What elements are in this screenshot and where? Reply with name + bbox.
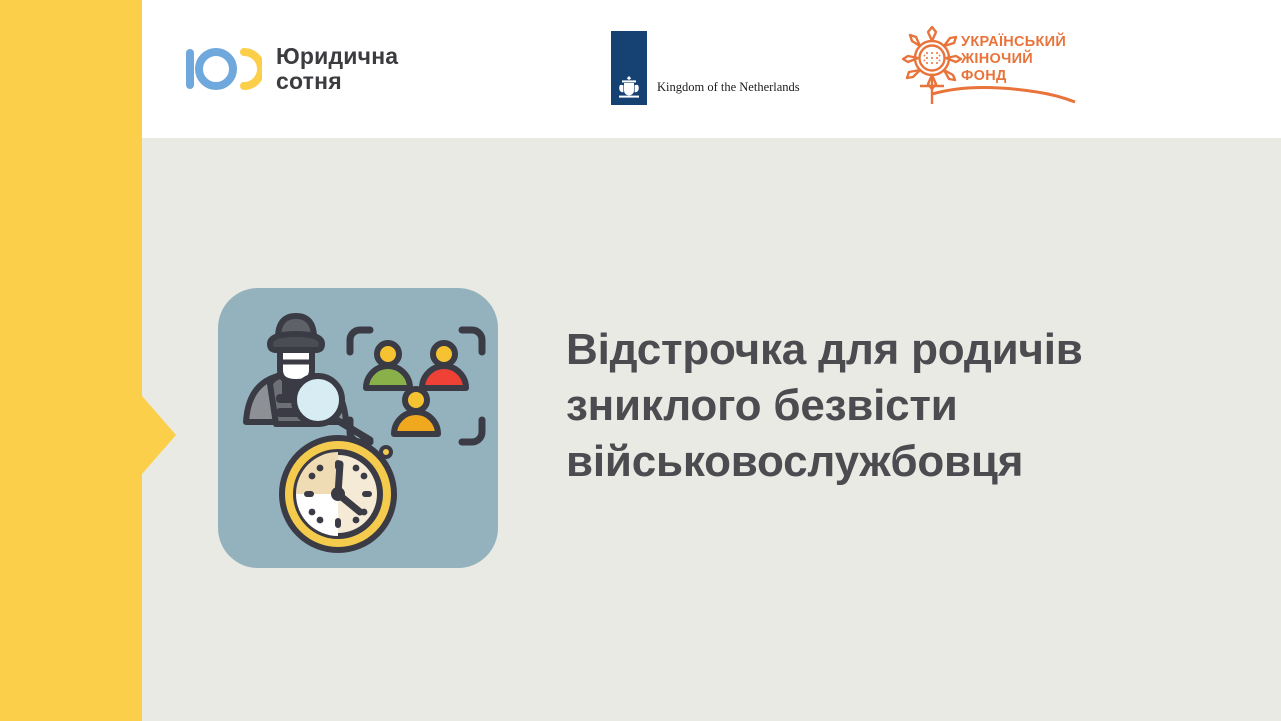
logo-netherlands-label: Kingdom of the Netherlands (657, 80, 800, 95)
netherlands-coat-of-arms-icon (616, 75, 642, 99)
person-red-icon (422, 343, 466, 388)
clock-icon (282, 438, 394, 550)
rail-chevron-right-icon (142, 396, 176, 474)
slide-root: Юридична сотня Kingdom of the Netherland… (0, 0, 1281, 721)
person-green-icon (366, 343, 410, 388)
logo-yurydychna-sotnya: Юридична сотня (186, 44, 398, 94)
logo-yurydychna-sotnya-label: Юридична сотня (276, 44, 398, 94)
logo-ukrainian-womens-fund-label: УКРАЇНСЬКИЙ ЖІНОЧИЙ ФОНД (961, 34, 1066, 85)
logo-kingdom-of-the-netherlands: Kingdom of the Netherlands (611, 31, 800, 105)
illustration-card (218, 288, 498, 568)
left-yellow-rail (0, 0, 142, 721)
person-orange-icon (394, 389, 438, 434)
page-title: Відстрочка для родичів зниклого безвісти… (566, 322, 1106, 490)
logo-ukrainian-womens-fund: УКРАЇНСЬКИЙ ЖІНОЧИЙ ФОНД (898, 22, 1088, 112)
yurydychna-sotnya-mark-icon (186, 47, 262, 91)
netherlands-blue-bar (611, 31, 647, 105)
illustration-artwork (218, 288, 498, 568)
